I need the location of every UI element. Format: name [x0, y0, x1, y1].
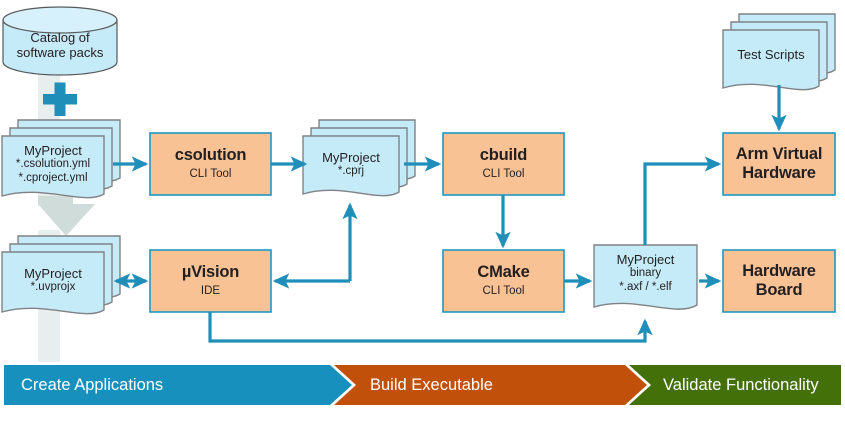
myproject-uvprojx-doc-shape — [2, 236, 120, 314]
workflow-banner — [0, 365, 845, 405]
banner-stage-validate[interactable] — [629, 365, 841, 405]
grey-flow-band — [38, 66, 95, 362]
test-scripts-doc-shape — [723, 14, 835, 90]
catalog-cylinder-shape — [3, 7, 117, 75]
csolution-tool-shape — [150, 133, 271, 195]
connector-binary-to-avh — [645, 164, 719, 245]
myproject-binary-doc-shape — [594, 245, 697, 309]
myproject-yml-doc-shape — [2, 120, 120, 198]
arm-virtual-hardware-shape — [723, 133, 835, 195]
cmake-tool-shape — [443, 250, 564, 312]
banner-stage-create[interactable] — [4, 365, 352, 405]
banner-stage-build[interactable] — [334, 365, 647, 405]
uvision-tool-shape — [150, 250, 271, 312]
cbuild-tool-shape — [443, 133, 564, 195]
diagram-canvas: Catalog of software packs MyProject *.cs… — [0, 0, 845, 436]
connector-uvision-to-binary — [210, 312, 645, 341]
hardware-board-shape — [723, 250, 835, 312]
myproject-cprj-doc-shape — [303, 120, 415, 196]
